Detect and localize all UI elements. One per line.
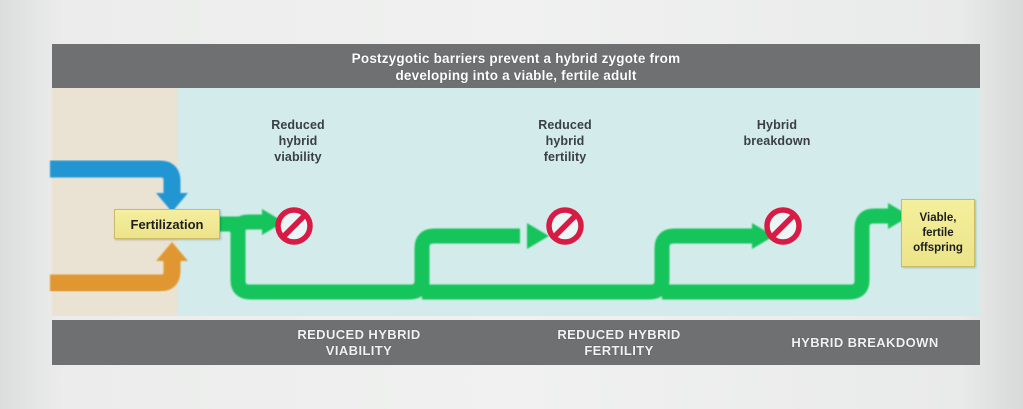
step-label-hybrid-breakdown: Hybrid breakdown — [712, 117, 842, 149]
top-banner: Postzygotic barriers prevent a hybrid zy… — [52, 44, 980, 88]
offspring-label-line1: Viable, — [913, 211, 963, 226]
barrier-1-prohibition-icon — [272, 204, 316, 248]
step-label-line2: hybrid — [238, 133, 358, 149]
offspring-label-line3: offspring — [913, 241, 963, 256]
step-label-line1: Reduced — [505, 117, 625, 133]
fertilization-label: Fertilization — [131, 217, 204, 232]
top-banner-line1: Postzygotic barriers prevent a hybrid zy… — [52, 50, 980, 67]
bottom-stage-reduced-hybrid-viability: REDUCED HYBRID VIABILITY — [234, 320, 484, 365]
bottom-stage-line1: REDUCED HYBRID — [557, 327, 680, 343]
step-label-line2: hybrid — [505, 133, 625, 149]
barrier-3-prohibition-icon — [761, 204, 805, 248]
bottom-stage-line2: VIABILITY — [297, 343, 420, 359]
step-label-reduced-hybrid-fertility: Reduced hybrid fertility — [505, 117, 625, 165]
parent-species-panel — [52, 88, 178, 316]
barrier-2-prohibition-icon — [543, 204, 587, 248]
bottom-stage-line1: REDUCED HYBRID — [297, 327, 420, 343]
fertilization-node: Fertilization — [114, 209, 220, 239]
step-label-reduced-hybrid-viability: Reduced hybrid viability — [238, 117, 358, 165]
top-banner-line2: developing into a viable, fertile adult — [52, 67, 980, 84]
bottom-stage-line2: FERTILITY — [557, 343, 680, 359]
bottom-stage-hybrid-breakdown: HYBRID BREAKDOWN — [745, 320, 985, 365]
bottom-stage-line1: HYBRID BREAKDOWN — [791, 335, 938, 351]
viable-fertile-offspring-node: Viable, fertile offspring — [901, 199, 975, 267]
bottom-stage-reduced-hybrid-fertility: REDUCED HYBRID FERTILITY — [499, 320, 739, 365]
step-label-line3: fertility — [505, 149, 625, 165]
step-label-line3: viability — [238, 149, 358, 165]
offspring-label-line2: fertile — [913, 226, 963, 241]
step-label-line2: breakdown — [712, 133, 842, 149]
step-label-line1: Hybrid — [712, 117, 842, 133]
step-label-line1: Reduced — [238, 117, 358, 133]
bottom-banner: REDUCED HYBRID VIABILITY REDUCED HYBRID … — [52, 320, 980, 365]
diagram-frame: Postzygotic barriers prevent a hybrid zy… — [0, 0, 1023, 409]
